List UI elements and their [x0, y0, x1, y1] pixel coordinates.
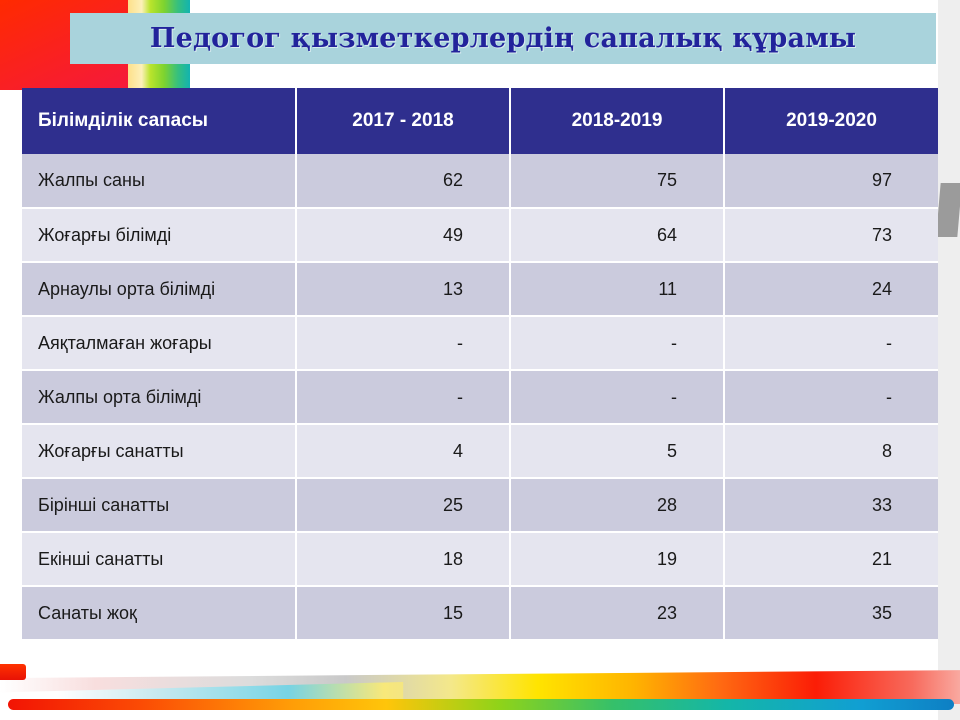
row-label: Жалпы орта білімді	[22, 370, 296, 424]
column-header-category: Білімділік сапасы	[22, 88, 296, 154]
cell-2018-2019: -	[510, 370, 724, 424]
slide-canvas: Педогог қызметкерлердің сапалық құрамы Б…	[0, 0, 960, 720]
title-banner: Педогог қызметкерлердің сапалық құрамы	[70, 13, 936, 64]
row-label: Екінші санатты	[22, 532, 296, 586]
table-body: Жалпы саны 62 75 97 Жоғарғы білімді 49 6…	[22, 154, 938, 640]
table-row: Арнаулы орта білімді 13 11 24	[22, 262, 938, 316]
cell-2018-2019: -	[510, 316, 724, 370]
right-edge-strip	[938, 0, 960, 720]
footer-red-tab	[0, 664, 26, 680]
row-label: Арнаулы орта білімді	[22, 262, 296, 316]
row-label: Бірінші санатты	[22, 478, 296, 532]
footer-decoration	[0, 662, 960, 720]
row-label: Санаты жоқ	[22, 586, 296, 640]
cell-2017-2018: 4	[296, 424, 510, 478]
table-row: Жалпы орта білімді - - -	[22, 370, 938, 424]
row-label: Жоғарғы санатты	[22, 424, 296, 478]
table-row: Бірінші санатты 25 28 33	[22, 478, 938, 532]
cell-2017-2018: 25	[296, 478, 510, 532]
cell-2018-2019: 19	[510, 532, 724, 586]
table-row: Санаты жоқ 15 23 35	[22, 586, 938, 640]
cell-2019-2020: 35	[724, 586, 938, 640]
cell-2017-2018: -	[296, 316, 510, 370]
cell-2019-2020: 33	[724, 478, 938, 532]
cell-2018-2019: 75	[510, 154, 724, 208]
column-header-2019-2020: 2019-2020	[724, 88, 938, 154]
table-row: Жоғарғы білімді 49 64 73	[22, 208, 938, 262]
cell-2017-2018: 13	[296, 262, 510, 316]
table-row: Жоғарғы санатты 4 5 8	[22, 424, 938, 478]
cell-2018-2019: 28	[510, 478, 724, 532]
table-row: Жалпы саны 62 75 97	[22, 154, 938, 208]
cell-2019-2020: 21	[724, 532, 938, 586]
cell-2017-2018: 62	[296, 154, 510, 208]
cell-2019-2020: 73	[724, 208, 938, 262]
table-header-row: Білімділік сапасы 2017 - 2018 2018-2019 …	[22, 88, 938, 154]
cell-2019-2020: 24	[724, 262, 938, 316]
cell-2018-2019: 23	[510, 586, 724, 640]
cell-2019-2020: 8	[724, 424, 938, 478]
cell-2018-2019: 5	[510, 424, 724, 478]
cell-2019-2020: -	[724, 370, 938, 424]
column-header-2017-2018: 2017 - 2018	[296, 88, 510, 154]
cell-2018-2019: 11	[510, 262, 724, 316]
cell-2018-2019: 64	[510, 208, 724, 262]
page-title: Педогог қызметкерлердің сапалық құрамы	[150, 23, 856, 54]
footer-rainbow-bar	[8, 699, 954, 710]
row-label: Аяқталмаған жоғары	[22, 316, 296, 370]
cell-2017-2018: 49	[296, 208, 510, 262]
column-header-2018-2019: 2018-2019	[510, 88, 724, 154]
row-label: Жоғарғы білімді	[22, 208, 296, 262]
cell-2017-2018: 15	[296, 586, 510, 640]
qualification-table: Білімділік сапасы 2017 - 2018 2018-2019 …	[22, 88, 938, 641]
cell-2019-2020: -	[724, 316, 938, 370]
cell-2019-2020: 97	[724, 154, 938, 208]
table-header: Білімділік сапасы 2017 - 2018 2018-2019 …	[22, 88, 938, 154]
row-label: Жалпы саны	[22, 154, 296, 208]
cell-2017-2018: -	[296, 370, 510, 424]
cell-2017-2018: 18	[296, 532, 510, 586]
table-row: Аяқталмаған жоғары - - -	[22, 316, 938, 370]
table-row: Екінші санатты 18 19 21	[22, 532, 938, 586]
qualification-table-wrapper: Білімділік сапасы 2017 - 2018 2018-2019 …	[22, 88, 938, 641]
